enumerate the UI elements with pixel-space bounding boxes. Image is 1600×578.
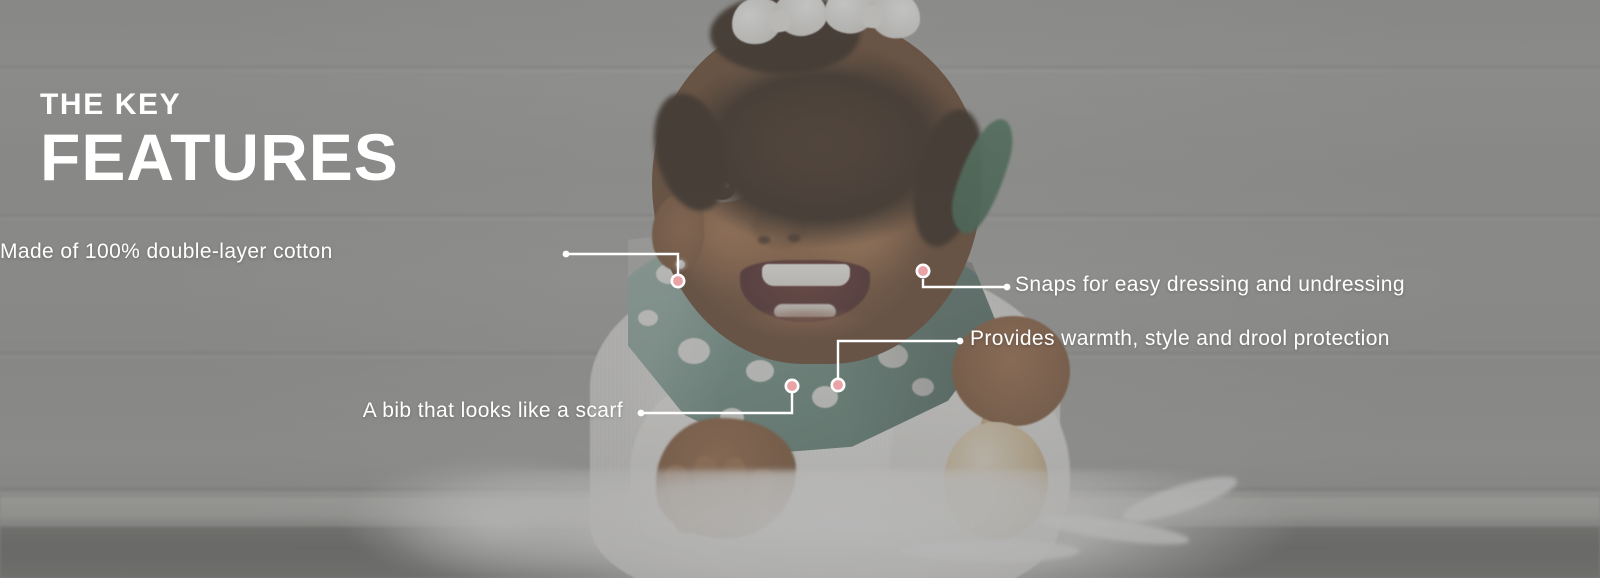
leader-line-snaps (923, 279, 1007, 287)
title-kicker: THE KEY (40, 90, 399, 120)
key-features-banner: Bazzle Baby (0, 0, 1600, 578)
annotation-overlay: THE KEY FEATURES Made of 100% double-lay… (0, 0, 1600, 578)
leader-endcap-cotton (563, 251, 570, 258)
anchor-dot-cotton[interactable] (672, 275, 684, 287)
leader-line-scarf (641, 393, 792, 413)
leader-endcap-scarf (638, 410, 645, 417)
leader-line-cotton (566, 254, 678, 274)
page-title: THE KEY FEATURES (40, 90, 399, 190)
callout-label-scarf: A bib that looks like a scarf (0, 399, 623, 423)
callout-label-snaps: Snaps for easy dressing and undressing (1015, 273, 1405, 297)
callout-label-warmth: Provides warmth, style and drool protect… (970, 327, 1390, 351)
anchor-dot-snaps[interactable] (917, 265, 929, 277)
anchor-dot-warmth[interactable] (832, 379, 844, 391)
title-main: FEATURES (40, 124, 399, 190)
leader-endcap-warmth (957, 338, 964, 345)
callout-label-cotton: Made of 100% double-layer cotton (0, 240, 218, 264)
anchor-dot-scarf[interactable] (786, 380, 798, 392)
leader-line-warmth (838, 341, 960, 378)
leader-endcap-snaps (1004, 284, 1011, 291)
